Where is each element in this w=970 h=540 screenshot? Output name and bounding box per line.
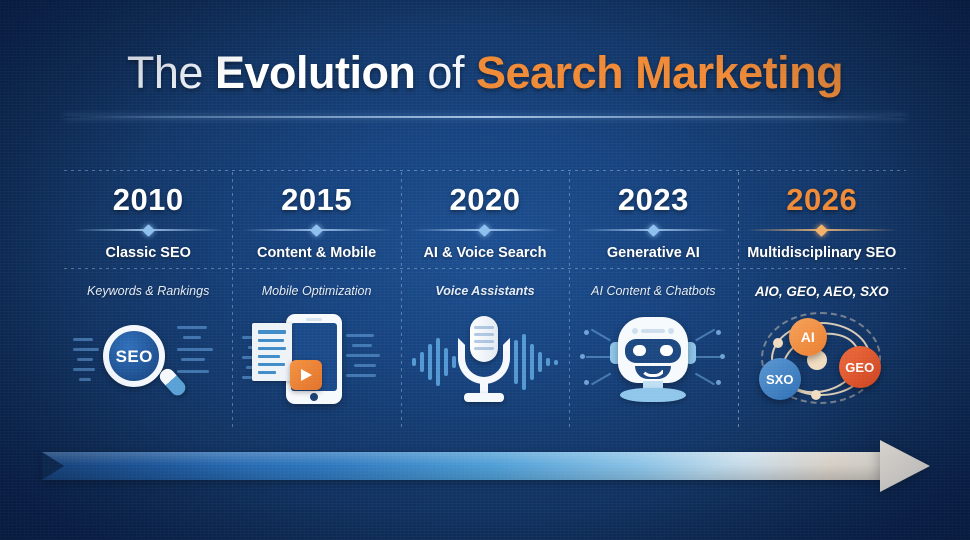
year-marker: [73, 225, 223, 235]
network-node-ai: AI: [789, 318, 827, 356]
robot-brow: [641, 329, 665, 333]
node-label: GEO: [845, 360, 874, 375]
network-connector-dot-1: [773, 338, 783, 348]
magnifier-lens: SEO: [103, 325, 165, 387]
stage-description: AIO, GEO, AEO, SXO: [742, 283, 902, 300]
phone-home-button: [310, 393, 318, 401]
chatbot-robot-icon: [578, 308, 728, 408]
smartphone-body: [286, 314, 342, 404]
stage-description: Mobile Optimization: [237, 283, 397, 300]
year-marker: [410, 225, 560, 235]
title-underline-glow: [64, 116, 906, 118]
infographic-canvas: The Evolution of Search Marketing 2010 C…: [0, 0, 970, 540]
title-part-evolution: Evolution: [215, 47, 415, 98]
year-label: 2010: [113, 182, 184, 218]
node-label: AI: [801, 329, 815, 345]
robot-base: [620, 388, 686, 402]
stage-label: Classic SEO: [105, 245, 190, 261]
stage-label: Generative AI: [607, 245, 700, 261]
network-diagram: AI GEO SXO: [747, 308, 897, 408]
stage-label: AI & Voice Search: [423, 245, 546, 261]
year-label: 2015: [281, 182, 352, 218]
timeline-column-2010[interactable]: 2010 Classic SEO Keywords & Rankings: [64, 170, 232, 425]
arrow-body: [42, 452, 880, 480]
timeline-column-2026[interactable]: 2026 Multidisciplinary SEO AIO, GEO, AEO…: [738, 170, 906, 425]
network-connector-dot-2: [811, 390, 821, 400]
year-label: 2026: [786, 182, 857, 218]
title-block: The Evolution of Search Marketing: [0, 47, 970, 99]
mobile-content-icon: [242, 308, 392, 408]
robot-eye-left: [633, 345, 646, 356]
diamond-icon: [815, 224, 828, 237]
timeline-column-2023[interactable]: 2023 Generative AI AI Content & Chatbots: [569, 170, 737, 425]
stage-description: AI Content & Chatbots: [573, 283, 733, 300]
year-marker: [747, 225, 897, 235]
year-marker: [578, 225, 728, 235]
node-label: SXO: [766, 372, 793, 387]
microphone-waveform-icon: [410, 308, 560, 408]
title-part-search-marketing: Search Marketing: [476, 47, 843, 98]
stage-label: Multidisciplinary SEO: [747, 245, 896, 261]
arrow-tail-notch: [42, 452, 64, 480]
network-node-sxo: SXO: [759, 358, 801, 400]
timeline-column-2015[interactable]: 2015 Content & Mobile Mobile Optimizatio…: [232, 170, 400, 425]
year-label: 2020: [449, 182, 520, 218]
page-title: The Evolution of Search Marketing: [0, 47, 970, 99]
network-node-geo: GEO: [839, 346, 881, 388]
seo-text: SEO: [109, 347, 159, 367]
stage-description: Keywords & Rankings: [68, 283, 228, 300]
diamond-icon: [479, 224, 492, 237]
diamond-icon: [647, 224, 660, 237]
robot-eye-right: [660, 345, 673, 356]
stage-label: Content & Mobile: [257, 245, 376, 261]
play-button-icon: [290, 360, 322, 390]
arrow-head: [880, 440, 930, 492]
timeline-column-2020[interactable]: 2020 AI & Voice Search Voice Assistants: [401, 170, 569, 425]
microphone-base: [464, 393, 504, 402]
year-marker: [242, 225, 392, 235]
magnifier-seo-icon: SEO: [73, 308, 223, 408]
diamond-icon: [310, 224, 323, 237]
year-label: 2023: [618, 182, 689, 218]
title-part-the: The: [127, 47, 215, 98]
network-nodes-icon: AI GEO SXO: [747, 308, 897, 408]
stage-description: Voice Assistants: [405, 283, 565, 300]
content-document: [252, 323, 292, 381]
phone-speaker: [306, 318, 322, 321]
timeline-columns: 2010 Classic SEO Keywords & Rankings: [64, 170, 906, 425]
title-part-of: of: [415, 47, 476, 98]
timeline-progress-arrow: [42, 440, 930, 492]
diamond-icon: [142, 224, 155, 237]
